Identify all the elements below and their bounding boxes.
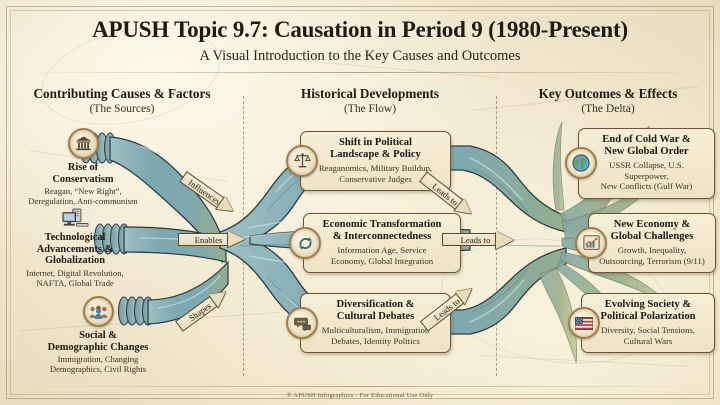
outcome-detail-line1: Diversity, Social Tensions, [601, 325, 695, 335]
source-detail: Reagan, “New Right”, Deregulation, Anti-… [8, 186, 158, 206]
source-name: Technological Advancements & Globalizati… [0, 232, 150, 267]
globe-icon [565, 147, 597, 179]
source-name: Rise of Conservatism [8, 162, 158, 185]
source-item-social-demographic-changes[interactable]: Social & Demographic Changes Immigration… [18, 296, 178, 375]
page-title: APUSH Topic 9.7: Causation in Period 9 (… [0, 17, 720, 43]
outcome-detail: USSR Collapse, U.S. Superpower, New Conf… [586, 160, 707, 192]
column-heading-flow: Historical Developments (The Flow) [244, 86, 496, 115]
development-title: Economic Transformation & Interconnected… [311, 219, 453, 243]
source-detail: Internet, Digital Revolution, NAFTA, Glo… [0, 268, 150, 288]
column-heading-sources: Contributing Causes & Factors (The Sourc… [0, 86, 244, 115]
map-texture-line [480, 355, 690, 367]
outcome-node-evolving-society[interactable]: Evolving Society & Political Polarizatio… [581, 293, 715, 353]
header-divider [14, 72, 706, 73]
development-detail: Information Age, Service Economy, Global… [311, 245, 453, 266]
outcome-title-line2: New Global Order [604, 146, 688, 157]
growth-chart-icon [575, 227, 607, 259]
outcome-title-line2: Global Challenges [611, 231, 694, 242]
computer-monitor-icon [60, 206, 90, 230]
outcome-detail-line2: Cultural Wars [624, 336, 673, 346]
source-detail-line1: Reagan, “New Right”, [44, 186, 121, 196]
development-detail-line2: Economy, Global Integration [331, 256, 433, 266]
outcome-title-line1: New Economy & [614, 219, 691, 230]
connector-label: Leads to [460, 235, 499, 245]
development-title-line2: Cultural Debates [337, 311, 414, 322]
source-name-line3: Globalization [45, 255, 105, 266]
column-heading-text: Historical Developments [244, 86, 496, 102]
connector-arrow-leads-to-middle: Leads to [442, 231, 518, 248]
outcome-title-line1: End of Cold War & [602, 134, 691, 145]
outcome-title: New Economy & Global Challenges [596, 219, 708, 243]
footer-divider [14, 386, 706, 387]
outcome-node-end-of-cold-war[interactable]: End of Cold War & New Global Order USSR … [578, 128, 715, 199]
column-heading-delta: Key Outcomes & Effects (The Delta) [496, 86, 720, 115]
development-detail-line1: Multiculturalism, Immigration [322, 325, 430, 335]
source-detail-line2: Deregulation, Anti-communism [28, 196, 137, 206]
development-detail-line2: Conservative Judges [339, 174, 412, 184]
source-name: Social & Demographic Changes [18, 330, 178, 353]
outcome-detail-line1: USSR Collapse, U.S. Superpower, [609, 160, 684, 181]
development-detail-line1: Information Age, Service [337, 245, 426, 255]
source-name-line1: Rise of [68, 162, 98, 173]
column-subheading-text: (The Sources) [0, 103, 244, 115]
speech-bubbles-icon [286, 307, 318, 339]
outcome-title: End of Cold War & New Global Order [586, 134, 707, 158]
source-detail-line2: Demographics, Civil Rights [50, 364, 146, 374]
page-subtitle: A Visual Introduction to the Key Causes … [0, 48, 720, 65]
source-detail-line1: Internet, Digital Revolution, [26, 268, 123, 278]
source-name-line2: Demographic Changes [48, 342, 149, 353]
development-title-line1: Economic Transformation [323, 219, 442, 230]
development-detail-line2: Debates, Identity Politics [331, 336, 420, 346]
outcome-detail-line2: Outsourcing, Terrorism (9/11) [599, 256, 705, 266]
column-subheading-text: (The Delta) [496, 103, 720, 115]
outcome-detail-line2: New Conflicts (Gulf War) [601, 181, 693, 191]
source-name-line2: Conservatism [52, 174, 113, 185]
bank-building-icon [68, 128, 99, 159]
connector-label: Leads to [431, 181, 468, 213]
outcome-detail-line1: Growth, Inequality, [618, 245, 687, 255]
outcome-title: Evolving Society & Political Polarizatio… [589, 299, 707, 323]
source-name-line1: Technological [45, 232, 106, 243]
outcome-detail: Growth, Inequality, Outsourcing, Terrori… [596, 245, 708, 266]
connector-arrow-influences: Influences [178, 170, 239, 219]
recycle-arrows-icon [289, 227, 321, 259]
people-group-icon [83, 296, 114, 327]
source-detail-line1: Immigration, Changing [58, 354, 139, 364]
connector-label: Enables [195, 235, 232, 245]
column-heading-text: Contributing Causes & Factors [0, 86, 244, 102]
scales-of-justice-icon [286, 145, 318, 177]
source-detail-line2: NAFTA, Global Trade [36, 278, 113, 288]
development-detail-line1: Reaganomics, Military Buildup, [319, 163, 432, 173]
development-title-line2: & Interconnectedness [333, 231, 431, 242]
outcome-node-new-economy[interactable]: New Economy & Global Challenges Growth, … [588, 213, 716, 273]
outcome-detail: Diversity, Social Tensions, Cultural War… [589, 325, 707, 346]
connector-arrow-enables: Enables [178, 231, 248, 248]
outcome-title-line1: Evolving Society & [605, 299, 692, 310]
source-name-line1: Social & [79, 330, 117, 341]
development-detail: Multiculturalism, Immigration Debates, I… [308, 325, 443, 346]
outcome-title-line2: Political Polarization [600, 311, 695, 322]
development-title-line1: Diversification & [337, 299, 415, 310]
development-node-economic-transformation[interactable]: Economic Transformation & Interconnected… [303, 213, 461, 273]
connector-label: Influences [187, 177, 230, 211]
connector-arrow-shapes: Shapes [174, 284, 233, 333]
source-detail: Immigration, Changing Demographics, Civi… [18, 354, 178, 374]
source-name-line2: Advancements & [37, 244, 113, 255]
development-title-line2: Landscape & Policy [330, 149, 421, 160]
development-title: Shift in Political Landscape & Policy [308, 137, 443, 161]
us-flag-icon [568, 307, 600, 339]
footer-credit: ® APUSH Infographics - For Educational U… [0, 392, 720, 399]
infographic-canvas: APUSH Topic 9.7: Causation in Period 9 (… [0, 0, 720, 405]
column-heading-text: Key Outcomes & Effects [496, 86, 720, 102]
source-item-rise-of-conservatism[interactable]: Rise of Conservatism Reagan, “New Right”… [8, 128, 158, 207]
column-subheading-text: (The Flow) [244, 103, 496, 115]
source-item-technological-advancements[interactable]: Technological Advancements & Globalizati… [0, 206, 150, 288]
development-title-line1: Shift in Political [339, 137, 412, 148]
